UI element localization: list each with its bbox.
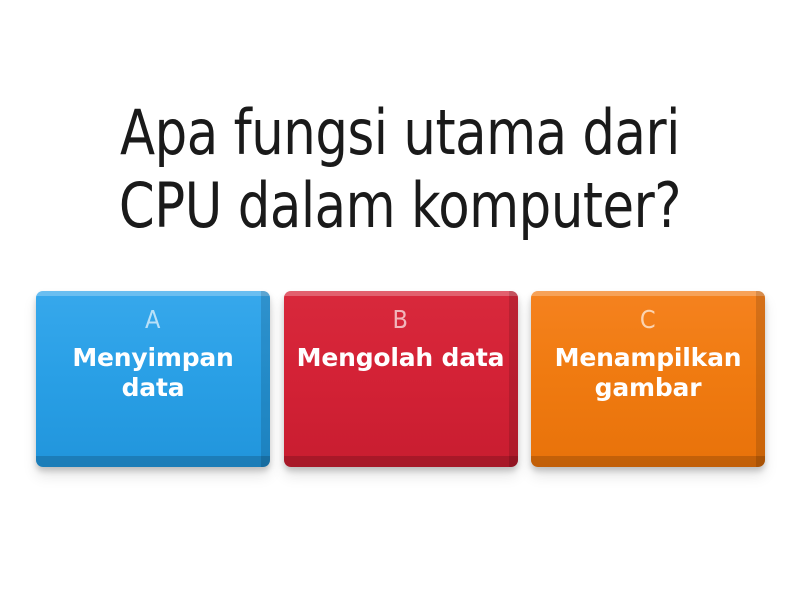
quiz-slide: Apa fungsi utama dari CPU dalam komputer… <box>0 0 800 600</box>
answer-card-c[interactable]: C Menampilkan gambar <box>531 291 765 467</box>
answer-text-c: Menampilkan gambar <box>531 343 765 403</box>
answer-text-b: Mengolah data <box>289 343 513 373</box>
answer-card-a[interactable]: A Menyimpan data <box>36 291 270 467</box>
answer-letter-c: C <box>640 307 656 332</box>
answer-options-row: A Menyimpan data B Mengolah data C Menam… <box>36 291 765 471</box>
answer-card-b[interactable]: B Mengolah data <box>284 291 518 467</box>
answer-text-a: Menyimpan data <box>36 343 270 403</box>
question-text: Apa fungsi utama dari CPU dalam komputer… <box>69 96 731 242</box>
question-area: Apa fungsi utama dari CPU dalam komputer… <box>0 96 800 242</box>
card-bevel-side-b <box>509 291 518 467</box>
answer-letter-a: A <box>145 307 161 332</box>
answer-letter-b: B <box>393 307 409 332</box>
